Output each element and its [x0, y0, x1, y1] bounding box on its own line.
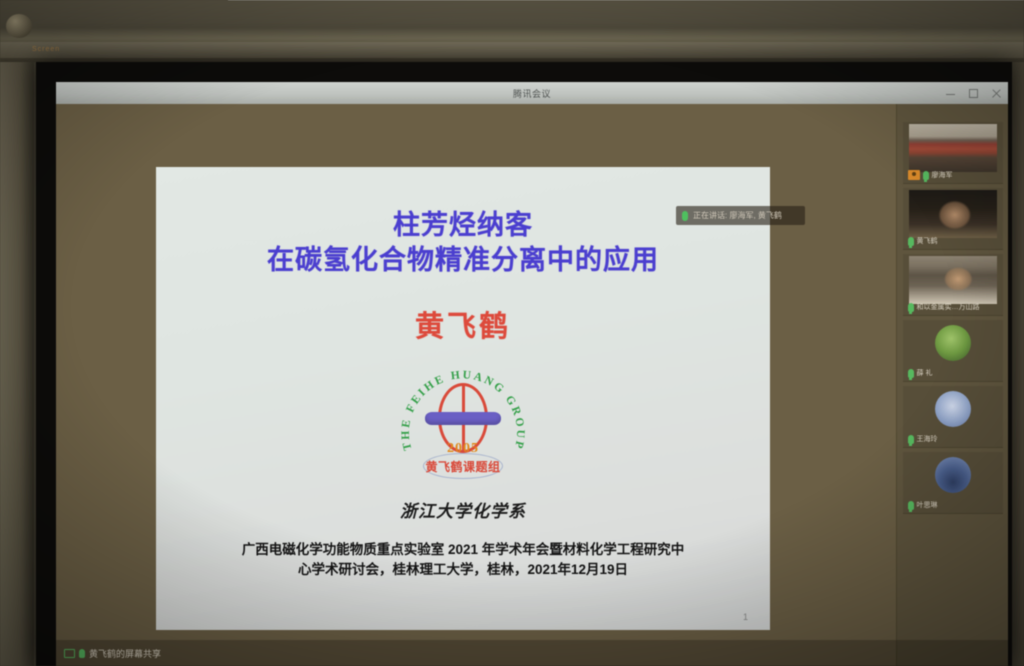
microphone-muted-icon: [908, 435, 914, 444]
speaking-indicator: 正在讲话: 廖海军, 黄飞鹤: [676, 206, 805, 225]
conference-line-1: 广西电磁化学功能物质重点实验室 2021 年学术年会暨材料化学工程研究中: [183, 540, 743, 560]
presentation-slide: 柱芳烃纳客 在碳氢化合物精准分离中的应用 黄飞鹤 THE FEIHE HUANG…: [156, 167, 770, 630]
participant-tile[interactable]: 黄飞鹤: [903, 188, 1003, 250]
participant-name: 和以金属实…万山路: [917, 302, 980, 312]
minimize-icon[interactable]: [945, 88, 956, 99]
host-icon: [908, 170, 920, 180]
logo-year: 2005: [397, 441, 529, 457]
logo-chinese-label: 黄飞鹤课题组: [397, 458, 529, 475]
slide-department: 浙江大学化学系: [400, 497, 526, 522]
microphone-icon: [908, 501, 914, 510]
participant-tile[interactable]: 廖海军: [903, 122, 1003, 184]
video-feed: [909, 256, 997, 304]
microphone-icon: [682, 211, 688, 221]
participant-tile[interactable]: 和以金属实…万山路: [903, 254, 1003, 316]
participant-name: 叶思琳: [917, 500, 938, 510]
microphone-muted-icon: [908, 369, 914, 378]
participant-rail[interactable]: 廖海军 黄飞鹤 和以金属实…万山路: [896, 104, 1008, 666]
microphone-icon: [908, 237, 914, 246]
projector-screen-housing: Screen: [0, 0, 1024, 62]
microphone-icon: [908, 303, 914, 312]
participant-name: 王海玲: [917, 434, 938, 444]
participant-label: 王海玲: [908, 434, 938, 444]
participant-tile[interactable]: 叶思琳: [903, 452, 1003, 514]
screen-share-label: 黄飞鹤的屏幕共享: [89, 647, 161, 660]
slide-conference-info: 广西电磁化学功能物质重点实验室 2021 年学术年会暨材料化学工程研究中 心学术…: [183, 540, 743, 581]
participant-tile[interactable]: 薛 礼: [903, 320, 1003, 382]
wall-left: [0, 0, 34, 666]
video-feed: [909, 124, 997, 172]
maximize-icon[interactable]: [968, 88, 979, 99]
participant-label: 和以金属实…万山路: [908, 302, 980, 312]
meeting-room-photo: Screen 腾讯会议 柱芳烃纳客 在碳氢化合物精准分离中的应用: [0, 0, 1024, 666]
window-title: 腾讯会议: [513, 87, 551, 100]
slide-title-line-2: 在碳氢化合物精准分离中的应用: [267, 244, 659, 277]
video-feed: [909, 190, 997, 238]
avatar: [935, 457, 971, 493]
participant-name: 黄飞鹤: [917, 236, 938, 246]
participant-name: 薛 礼: [917, 368, 933, 378]
close-icon[interactable]: [991, 88, 1002, 99]
participant-tile[interactable]: 王海玲: [903, 386, 1003, 448]
housing-lip: [0, 42, 1024, 58]
conference-line-2: 心学术研讨会，桂林理工大学，桂林，2021年12月19日: [183, 560, 743, 580]
speaking-indicator-label: 正在讲话: 廖海军, 黄飞鹤: [693, 210, 782, 221]
tencent-meeting-window: 腾讯会议 柱芳烃纳客 在碳氢化合物精准分离中的应用 黄飞鹤: [56, 82, 1008, 666]
slide-speaker-name: 黄飞鹤: [415, 303, 511, 345]
logo-purple-band: [425, 412, 501, 425]
microphone-icon: [79, 649, 85, 658]
participant-name: 廖海军: [932, 170, 953, 180]
participant-label: 廖海军: [908, 170, 953, 180]
housing-brand-label: Screen: [32, 46, 60, 53]
microphone-icon: [923, 171, 929, 180]
avatar: [935, 325, 971, 361]
participant-label: 薛 礼: [908, 368, 933, 378]
avatar: [935, 391, 971, 427]
screen-share-icon: [64, 649, 75, 658]
shared-screen-area[interactable]: 柱芳烃纳客 在碳氢化合物精准分离中的应用 黄飞鹤 THE FEIHE HUANG…: [56, 104, 896, 666]
housing-knob: [6, 14, 32, 38]
window-controls: [945, 82, 1002, 104]
participant-label: 黄飞鹤: [908, 236, 938, 246]
screen-share-status-bar: 黄飞鹤的屏幕共享: [56, 640, 1008, 666]
participant-label: 叶思琳: [908, 500, 938, 510]
slide-title-line-1: 柱芳烃纳客: [393, 209, 533, 242]
slide-page-number: 1: [743, 612, 748, 622]
research-group-logo-icon: THE FEIHE HUANG GROUP 2005 黄飞鹤课题组: [397, 365, 529, 483]
window-titlebar[interactable]: 腾讯会议: [56, 82, 1008, 104]
meeting-body: 柱芳烃纳客 在碳氢化合物精准分离中的应用 黄飞鹤 THE FEIHE HUANG…: [56, 104, 1008, 666]
